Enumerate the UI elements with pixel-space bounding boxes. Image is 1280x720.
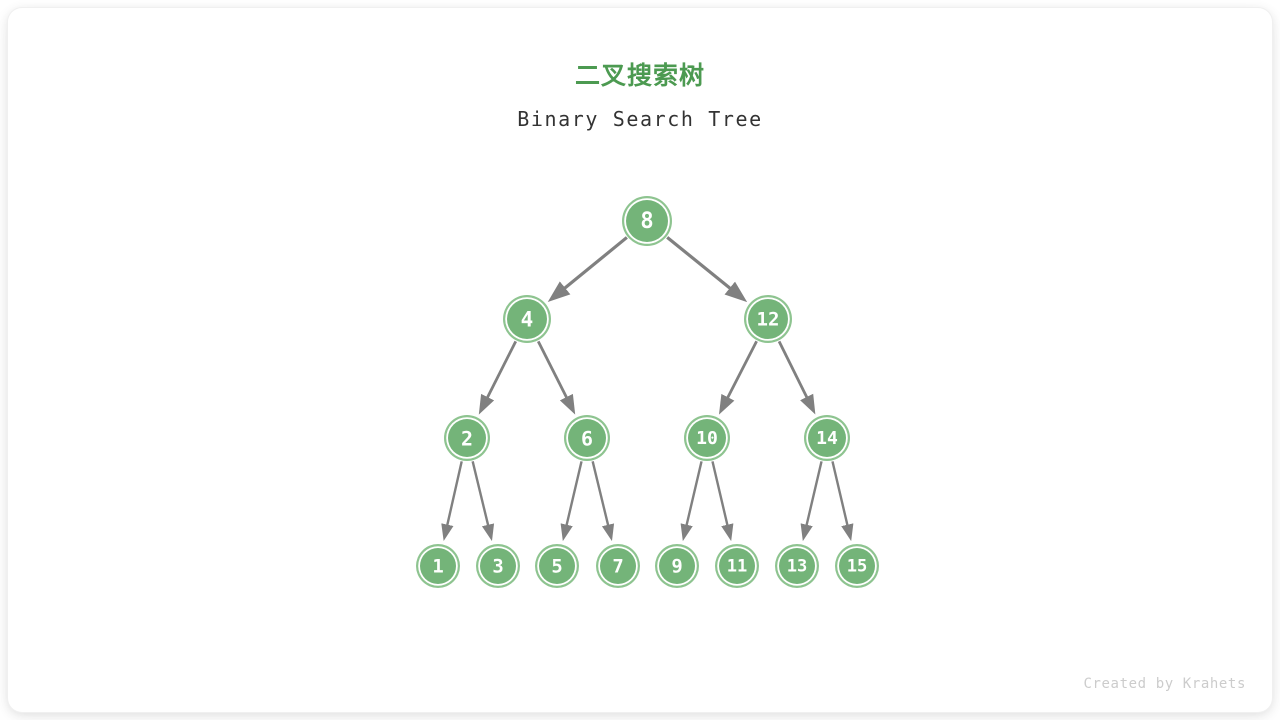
tree-node-label: 6	[581, 427, 593, 451]
tree-node[interactable]: 5	[535, 544, 579, 588]
tree-node[interactable]: 3	[476, 544, 520, 588]
tree-nodes: 841226101413579111315	[416, 196, 879, 588]
tree-edge	[723, 341, 756, 406]
tree-edge	[483, 341, 516, 406]
diagram-canvas: 二叉搜索树 Binary Search Tree 841226101413579…	[8, 8, 1272, 712]
tree-node-label: 1	[432, 556, 443, 578]
tree-edge	[685, 461, 702, 533]
tree-node[interactable]: 9	[655, 544, 699, 588]
tree-node[interactable]: 1	[416, 544, 460, 588]
tree-node-label: 9	[671, 556, 682, 578]
tree-node-label: 13	[787, 557, 808, 577]
tree-edge	[538, 341, 571, 406]
tree-edge	[779, 341, 811, 406]
tree-node[interactable]: 8	[622, 196, 672, 246]
binary-search-tree-graphic: 841226101413579111315	[8, 8, 1272, 712]
tree-node[interactable]: 14	[804, 415, 850, 461]
tree-edge	[445, 461, 461, 533]
tree-node[interactable]: 11	[715, 544, 759, 588]
tree-node-label: 15	[847, 557, 868, 577]
tree-edge	[805, 461, 822, 533]
tree-edges	[445, 237, 849, 533]
tree-node[interactable]: 6	[564, 415, 610, 461]
tree-node-label: 5	[551, 556, 562, 578]
tree-node-label: 14	[816, 428, 838, 449]
tree-node-label: 8	[640, 209, 653, 234]
tree-node-label: 10	[696, 428, 718, 449]
tree-node[interactable]: 10	[684, 415, 730, 461]
tree-node[interactable]: 13	[775, 544, 819, 588]
tree-node[interactable]: 7	[596, 544, 640, 588]
tree-edge	[667, 237, 739, 295]
tree-edge	[712, 461, 729, 533]
tree-edge	[556, 237, 627, 295]
tree-node-label: 11	[727, 557, 748, 577]
tree-node-label: 3	[492, 556, 503, 578]
tree-node[interactable]: 15	[835, 544, 879, 588]
tree-edge	[832, 461, 849, 533]
tree-node[interactable]: 2	[444, 415, 490, 461]
tree-node[interactable]: 4	[503, 295, 551, 343]
tree-edge	[565, 461, 582, 533]
tree-node-label: 12	[757, 309, 780, 331]
tree-node-label: 4	[521, 308, 534, 332]
tree-node-label: 2	[461, 427, 473, 451]
tree-node-label: 7	[612, 556, 623, 578]
tree-node[interactable]: 12	[744, 295, 792, 343]
tree-edge	[593, 461, 610, 533]
tree-edge	[473, 461, 490, 533]
credit-label: Created by Krahets	[1083, 676, 1246, 692]
